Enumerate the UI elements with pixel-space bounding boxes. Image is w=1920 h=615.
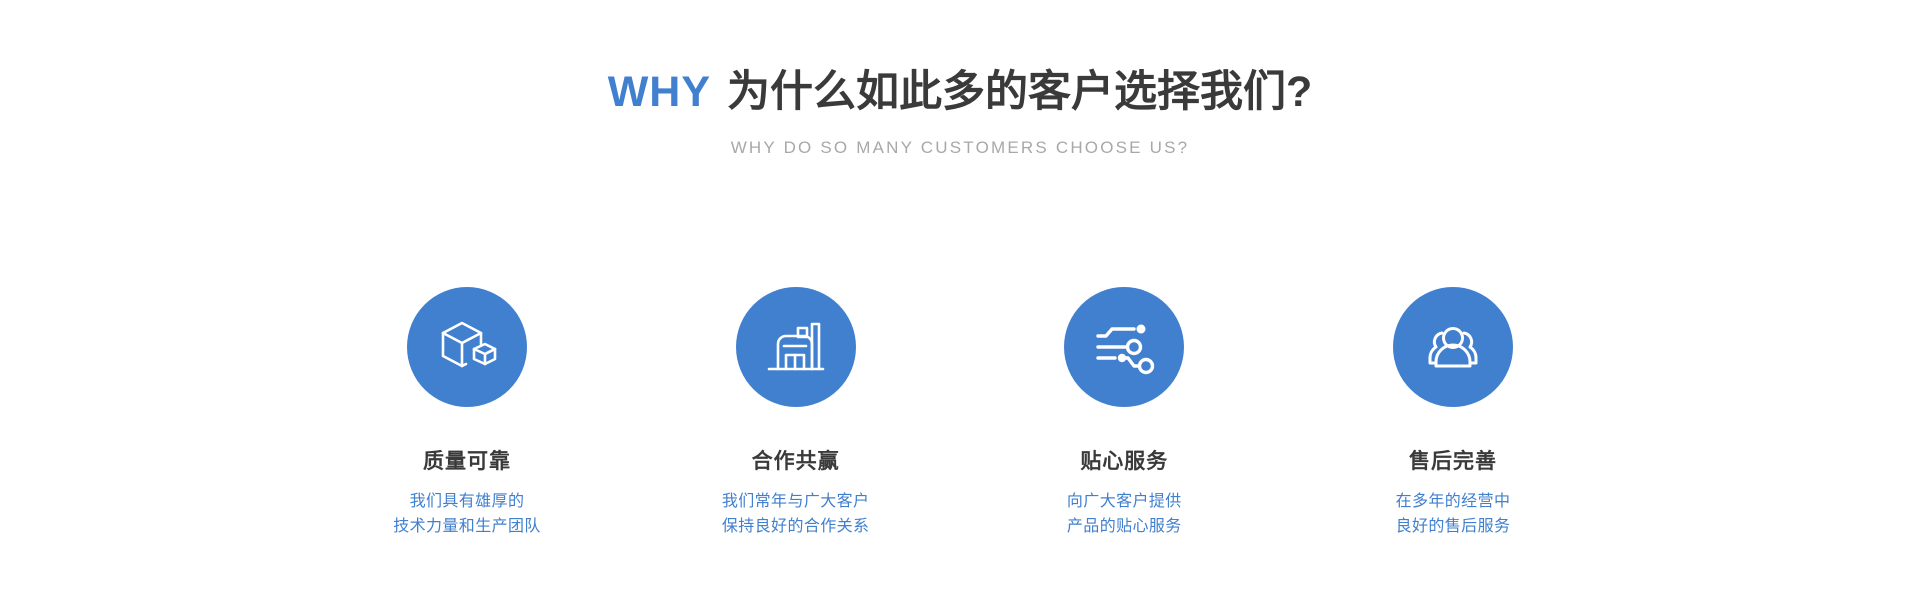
feature-title: 合作共赢	[752, 449, 840, 474]
feature-title: 贴心服务	[1080, 449, 1168, 474]
feature-title: 售后完善	[1409, 449, 1497, 474]
feature-icon-circle	[736, 287, 856, 407]
feature-desc-line1: 我们具有雄厚的	[393, 490, 541, 515]
feature-description: 向广大客户提供 产品的贴心服务	[1067, 490, 1182, 540]
feature-list: 质量可靠 我们具有雄厚的 技术力量和生产团队	[303, 287, 1617, 540]
headline-prefix: WHY	[608, 68, 711, 116]
feature-item-service[interactable]: 贴心服务 向广大客户提供 产品的贴心服务	[960, 287, 1288, 540]
feature-item-quality[interactable]: 质量可靠 我们具有雄厚的 技术力量和生产团队	[303, 287, 631, 540]
headline-main: 为什么如此多的客户选择我们?	[727, 68, 1312, 116]
why-choose-us-section: WHY为什么如此多的客户选择我们? WHY DO SO MANY CUSTOME…	[0, 0, 1920, 615]
feature-description: 在多年的经营中 良好的售后服务	[1396, 490, 1511, 540]
feature-desc-line1: 向广大客户提供	[1067, 490, 1182, 515]
feature-desc-line1: 在多年的经营中	[1396, 490, 1511, 515]
feature-desc-line1: 我们常年与广大客户	[722, 490, 870, 515]
feature-icon-circle	[1393, 287, 1513, 407]
feature-description: 我们具有雄厚的 技术力量和生产团队	[393, 490, 541, 540]
section-heading: WHY为什么如此多的客户选择我们? WHY DO SO MANY CUSTOME…	[0, 66, 1920, 158]
circuit-nodes-icon	[1093, 316, 1155, 378]
feature-desc-line2: 技术力量和生产团队	[393, 515, 541, 540]
feature-icon-circle	[407, 287, 527, 407]
factory-icon	[765, 316, 827, 378]
package-box-icon	[436, 316, 498, 378]
page-title: WHY为什么如此多的客户选择我们?	[0, 66, 1920, 120]
feature-icon-circle	[1064, 287, 1184, 407]
feature-item-cooperation[interactable]: 合作共赢 我们常年与广大客户 保持良好的合作关系	[632, 287, 960, 540]
page-subtitle: WHY DO SO MANY CUSTOMERS CHOOSE US?	[0, 138, 1920, 158]
feature-desc-line2: 保持良好的合作关系	[722, 515, 870, 540]
feature-title: 质量可靠	[423, 449, 511, 474]
feature-desc-line2: 产品的贴心服务	[1067, 515, 1182, 540]
feature-desc-line2: 良好的售后服务	[1396, 515, 1511, 540]
people-group-icon	[1422, 316, 1484, 378]
feature-description: 我们常年与广大客户 保持良好的合作关系	[722, 490, 870, 540]
feature-item-aftersales[interactable]: 售后完善 在多年的经营中 良好的售后服务	[1289, 287, 1617, 540]
